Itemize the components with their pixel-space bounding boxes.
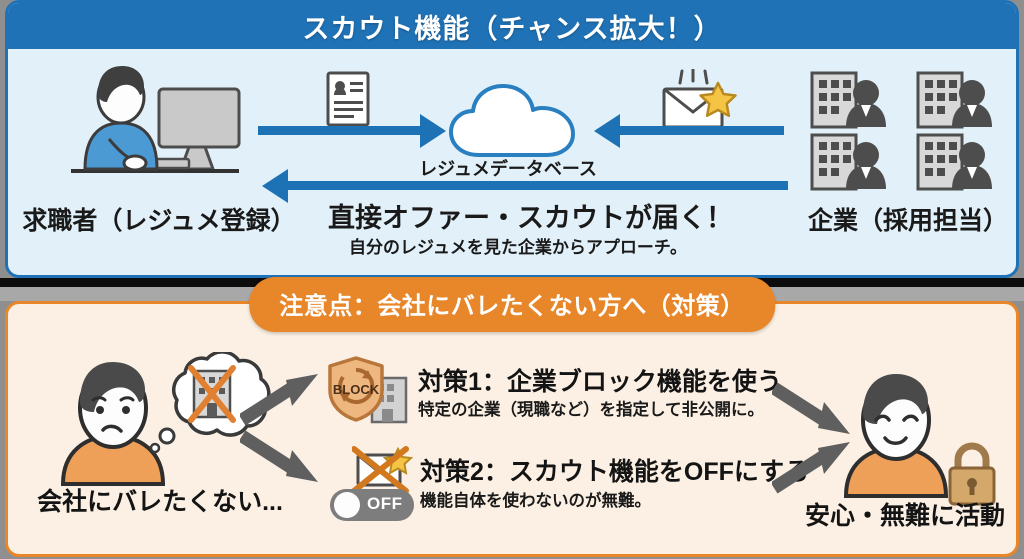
svg-text:BLOCK: BLOCK <box>333 382 380 397</box>
measure-2-title: 対策2：スカウト機能をOFFにする <box>420 452 809 488</box>
building-with-recruiter-icon <box>808 69 1018 198</box>
offer-arrow-line <box>288 181 788 190</box>
scout-banner-title: スカウト機能（チャンス拡大！） <box>8 7 1016 46</box>
scout-off-toggle[interactable]: OFF <box>330 489 414 521</box>
toggle-label: OFF <box>367 494 403 514</box>
measure-1-title: 対策1：企業ブロック機能を使う <box>418 362 782 398</box>
resume-document-icon <box>326 71 370 132</box>
offer-subtext: 自分のレジュメを見た企業からアプローチ。 <box>308 233 728 258</box>
arrow-left-head-icon <box>594 114 620 148</box>
seeker-label: 求職者（レジュメ登録） <box>14 201 304 237</box>
block-shield-icon: BLOCK <box>328 356 410 429</box>
cloud-database-icon <box>445 81 581 166</box>
arrow-left-icon <box>620 126 784 135</box>
scout-feature-card: スカウト機能（チャンス拡大！） <box>5 0 1019 278</box>
infographic-stage: スカウト機能（チャンス拡大！） <box>0 0 1024 559</box>
measure-2-subtitle: 機能自体を使わないのが無難。 <box>420 487 651 511</box>
offer-arrow-head-icon <box>262 169 288 203</box>
arrow-right-icon <box>258 126 422 135</box>
measure-1-subtitle: 特定の企業（現職など）を指定して非公開に。 <box>418 396 764 420</box>
gray-arrow-down-right-icon <box>240 430 320 489</box>
arrow-right-head-icon <box>420 114 446 148</box>
gray-arrow-up-right-icon <box>240 372 320 431</box>
toggle-knob <box>334 492 360 518</box>
database-label: レジュメデータベース <box>388 155 628 181</box>
company-label: 企業（採用担当） <box>788 201 1019 237</box>
offer-headline: 直接オファー・スカウトが届く！ <box>328 196 708 235</box>
caution-badge: 注意点：会社にバレたくない方へ（対策） <box>249 277 775 332</box>
person-at-computer-icon <box>63 65 248 195</box>
result-label: 安心・無難に活動 <box>790 496 1020 532</box>
